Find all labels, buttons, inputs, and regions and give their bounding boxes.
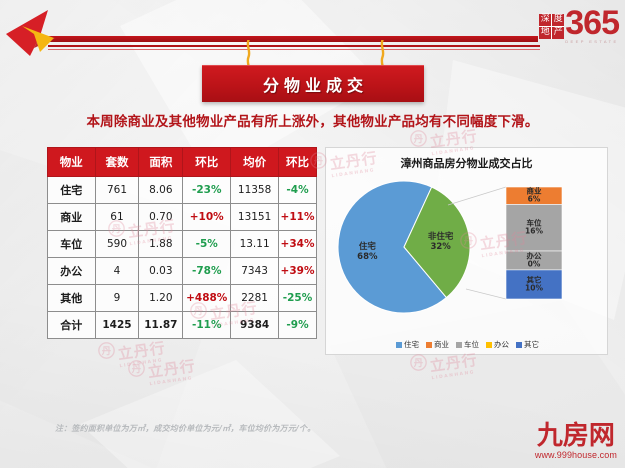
headline-text: 本周除商业及其他物业产品有所上涨外，其他物业产品均有不同幅度下滑。 xyxy=(0,110,625,130)
cell-sets: 590 xyxy=(95,231,139,258)
legend-swatch-icon xyxy=(396,342,402,348)
table-row: 其他91.20+488%2281-25% xyxy=(48,285,317,312)
table-row: 车位5901.88-5%13.11+34% xyxy=(48,231,317,258)
leader-line xyxy=(448,187,506,205)
column-header: 面积 xyxy=(139,148,183,177)
cell-sets: 61 xyxy=(95,204,139,231)
legend-item: 其它 xyxy=(516,339,539,350)
table-header-row: 物业 套数 面积 环比 均价 环比 xyxy=(48,148,317,177)
column-header: 均价 xyxy=(231,148,279,177)
legend-label: 商业 xyxy=(434,339,449,350)
logo-char: 产 xyxy=(552,27,564,39)
banner-title: 分物业成交 xyxy=(258,72,368,96)
bar-segment-value: 0% xyxy=(528,259,541,268)
banner-plate: 分物业成交 xyxy=(202,65,424,102)
section-banner: 分物业成交 xyxy=(0,40,625,102)
pie-slice-label: 非住宅 xyxy=(428,231,454,242)
logo-char: 地 xyxy=(539,27,551,39)
cell-property: 办公 xyxy=(48,258,96,285)
legend-label: 住宅 xyxy=(404,339,419,350)
cell-price: 9384 xyxy=(231,312,279,339)
footer-logo: 九房网 www.999house.com xyxy=(535,423,617,460)
cell-price-qoq: +11% xyxy=(279,204,317,231)
cell-price-qoq: -9% xyxy=(279,312,317,339)
cell-area-qoq: +10% xyxy=(183,204,231,231)
pie-slice-value: 68% xyxy=(357,252,378,262)
chart-body: 住宅68%非住宅32%商业6%车位16%办公0%其它10% xyxy=(326,171,609,331)
cell-sets: 4 xyxy=(95,258,139,285)
column-header: 环比 xyxy=(279,148,317,177)
cell-price-qoq: -4% xyxy=(279,177,317,204)
cell-area-qoq: -11% xyxy=(183,312,231,339)
cell-property: 合计 xyxy=(48,312,96,339)
legend-item: 住宅 xyxy=(396,339,419,350)
legend-swatch-icon xyxy=(486,342,492,348)
cell-area-qoq: +488% xyxy=(183,285,231,312)
cell-price: 11358 xyxy=(231,177,279,204)
legend-item: 车位 xyxy=(456,339,479,350)
svg-text:丹: 丹 xyxy=(413,134,424,145)
cell-price: 13.11 xyxy=(231,231,279,258)
footer-logo-name: 九房网 xyxy=(537,423,615,450)
cell-property: 其他 xyxy=(48,285,96,312)
bar-of-pie-chart: 住宅68%非住宅32%商业6%车位16%办公0%其它10% xyxy=(326,171,609,331)
data-table: 物业 套数 面积 环比 均价 环比 住宅7618.06-23%11358-4%商… xyxy=(47,147,317,339)
cell-sets: 9 xyxy=(95,285,139,312)
footnote-text: 注：签约面积单位为万㎡，成交均价单位为元/㎡，车位均价为万元/个。 xyxy=(55,423,315,434)
table-row: 住宅7618.06-23%11358-4% xyxy=(48,177,317,204)
cell-property: 商业 xyxy=(48,204,96,231)
cell-price: 13151 xyxy=(231,204,279,231)
legend-label: 办公 xyxy=(494,339,509,350)
cell-price: 7343 xyxy=(231,258,279,285)
cell-price: 2281 xyxy=(231,285,279,312)
bar-segment-value: 16% xyxy=(525,227,543,236)
cell-area: 0.70 xyxy=(139,204,183,231)
cell-price-qoq: +39% xyxy=(279,258,317,285)
table-header: 物业 套数 面积 环比 均价 环比 xyxy=(48,148,317,177)
table-body: 住宅7618.06-23%11358-4%商业610.70+10%13151+1… xyxy=(48,177,317,339)
cell-area-qoq: -23% xyxy=(183,177,231,204)
property-transaction-table: 物业 套数 面积 环比 均价 环比 住宅7618.06-23%11358-4%商… xyxy=(47,147,317,339)
table-row: 商业610.70+10%13151+11% xyxy=(48,204,317,231)
legend-label: 车位 xyxy=(464,339,479,350)
cell-property: 车位 xyxy=(48,231,96,258)
pie-slice-value: 32% xyxy=(430,242,451,252)
pie-slice-label: 住宅 xyxy=(359,241,377,252)
cell-sets: 1425 xyxy=(95,312,139,339)
cell-area: 8.06 xyxy=(139,177,183,204)
chart-title: 漳州商品房分物业成交占比 xyxy=(326,155,607,171)
cell-sets: 761 xyxy=(95,177,139,204)
cell-area: 1.20 xyxy=(139,285,183,312)
bar-segment-value: 6% xyxy=(528,195,541,204)
chart-legend: 住宅商业车位办公其它 xyxy=(326,339,609,350)
leader-line xyxy=(466,289,506,299)
legend-item: 办公 xyxy=(486,339,509,350)
logo-char: 深 xyxy=(539,14,551,26)
column-header: 环比 xyxy=(183,148,231,177)
column-header: 物业 xyxy=(48,148,96,177)
cell-area-qoq: -78% xyxy=(183,258,231,285)
slide-canvas: 深 度 地 产 365 DEEP ESTATE 分物业成交 本周除商业及其他物业… xyxy=(0,0,625,468)
logo-char-box: 深 度 地 产 xyxy=(539,14,564,39)
logo-char: 度 xyxy=(552,14,564,26)
cell-area-qoq: -5% xyxy=(183,231,231,258)
logo-number: 365 xyxy=(565,8,619,38)
legend-swatch-icon xyxy=(516,342,522,348)
legend-item: 商业 xyxy=(426,339,449,350)
footer-logo-url: www.999house.com xyxy=(535,450,617,460)
legend-label: 其它 xyxy=(524,339,539,350)
cell-property: 住宅 xyxy=(48,177,96,204)
bar-segment-value: 10% xyxy=(525,283,543,292)
cell-price-qoq: +34% xyxy=(279,231,317,258)
legend-swatch-icon xyxy=(426,342,432,348)
cell-price-qoq: -25% xyxy=(279,285,317,312)
cell-area: 1.88 xyxy=(139,231,183,258)
legend-swatch-icon xyxy=(456,342,462,348)
table-row: 办公40.03-78%7343+39% xyxy=(48,258,317,285)
cell-area: 0.03 xyxy=(139,258,183,285)
table-row: 合计142511.87-11%9384-9% xyxy=(48,312,317,339)
column-header: 套数 xyxy=(95,148,139,177)
cell-area: 11.87 xyxy=(139,312,183,339)
chart-panel: 漳州商品房分物业成交占比 住宅68%非住宅32%商业6%车位16%办公0%其它1… xyxy=(325,147,608,355)
